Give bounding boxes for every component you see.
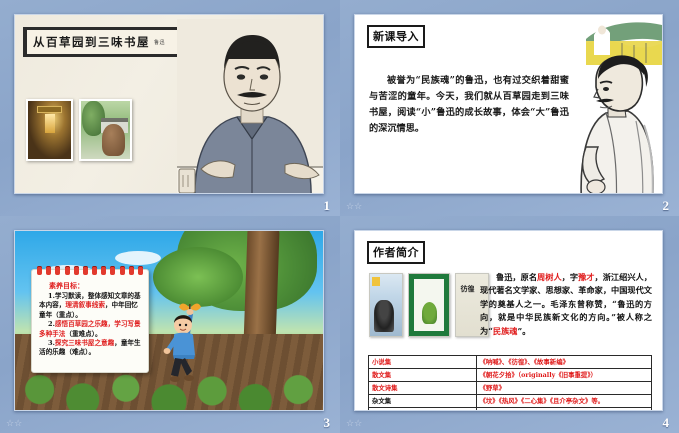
objective-item-3: 3.探究三味书屋之意趣，童年生活的乐趣（难点）。 bbox=[39, 339, 142, 358]
slide-cell-1[interactable]: 从百草园到三味书屋 鲁迅 bbox=[0, 0, 340, 216]
slide-number-4: 4 bbox=[663, 415, 670, 431]
table-cell-value: 《坟》《热风》《二心集》《且介亭杂文》等。 bbox=[476, 395, 651, 408]
table-row: 中国第一篇白话小说 《狂人日记》 bbox=[369, 408, 652, 412]
cloud-shape bbox=[115, 251, 161, 265]
slide-cell-2[interactable]: 新课导入 被誉为“民族魂”的鲁迅，也有过交织着甜蜜与苦涩的童年。今天，我们就从百… bbox=[340, 0, 679, 216]
table-row: 小说集 《呐喊》、《彷徨》、《故事新编》 bbox=[369, 356, 652, 369]
rock-shape bbox=[102, 124, 126, 156]
objective-item-1: 1.学习默读，整体感知文章的基本内容，理清叙事线索，中年回忆童年（重点）。 bbox=[39, 292, 142, 320]
slide-number-2: 2 bbox=[663, 198, 670, 214]
slide-2[interactable]: 新课导入 被誉为“民族魂”的鲁迅，也有过交织着甜蜜与苦涩的童年。今天，我们就从百… bbox=[354, 14, 663, 194]
slide-number-3: 3 bbox=[324, 415, 331, 431]
watermark-star-icon: ☆☆ bbox=[6, 414, 40, 430]
objectives-notepad: 素养目标： 1.学习默读，整体感知文章的基本内容，理清叙事线索，中年回忆童年（重… bbox=[31, 269, 149, 373]
page-subtitle: 鲁迅 bbox=[154, 39, 165, 46]
slide-cell-4[interactable]: 作者简介 彷徨 鲁迅，原名周树人，字豫才，浙江绍兴人，现代著名文学家、思想家、革… bbox=[340, 216, 679, 433]
objectives-title: 素养目标： bbox=[39, 281, 142, 291]
lamp-shape bbox=[45, 114, 54, 134]
table-cell-value: 《野草》 bbox=[476, 382, 651, 395]
baicao-garden-stone-photo bbox=[79, 99, 132, 161]
notepad-rings bbox=[37, 266, 143, 275]
book-cover-group: 彷徨 bbox=[369, 273, 489, 337]
section-heading: 新课导入 bbox=[367, 25, 425, 48]
author-bio-text: 鲁迅，原名周树人，字豫才，浙江绍兴人，现代著名文学家、思想家、革命家，中国现代文… bbox=[480, 271, 652, 338]
lesson-intro-text: 被誉为“民族魂”的鲁迅，也有过交织着甜蜜与苦涩的童年。今天，我们就从百草园走到三… bbox=[369, 73, 569, 137]
table-cell-key: 散文集 bbox=[369, 369, 477, 382]
table-row: 杂文集 《坟》《热风》《二心集》《且介亭杂文》等。 bbox=[369, 395, 652, 408]
tree-canopy-shape bbox=[153, 247, 243, 307]
works-table: 小说集 《呐喊》、《彷徨》、《故事新编》 散文集 《朝花夕拾》（original… bbox=[368, 355, 652, 411]
watermark-star-icon: ☆☆ bbox=[346, 414, 380, 430]
page-title: 从百草园到三味书屋 bbox=[23, 34, 150, 50]
slide-number-1: 1 bbox=[324, 198, 331, 214]
slide-4[interactable]: 作者简介 彷徨 鲁迅，原名周树人，字豫才，浙江绍兴人，现代著名文学家、思想家、革… bbox=[354, 230, 663, 411]
table-row: 散文诗集 《野草》 bbox=[369, 382, 652, 395]
section-heading: 作者简介 bbox=[367, 241, 425, 264]
slide-1[interactable]: 从百草园到三味书屋 鲁迅 bbox=[14, 14, 324, 194]
boy-catching-butterfly-illustration bbox=[159, 299, 217, 387]
table-cell-value: 《呐喊》、《彷徨》、《故事新编》 bbox=[476, 356, 651, 369]
slide-1-title-band: 从百草园到三味书屋 鲁迅 bbox=[23, 27, 186, 57]
table-row: 散文集 《朝花夕拾》（originally《旧事重提》） bbox=[369, 369, 652, 382]
svg-text:☆☆: ☆☆ bbox=[346, 202, 362, 212]
table-cell-key: 中国第一篇白话小说 bbox=[369, 408, 477, 412]
table-cell-value: 《朝花夕拾》（originally《旧事重提》） bbox=[476, 369, 651, 382]
slide-3[interactable]: 素养目标： 1.学习默读，整体感知文章的基本内容，理清叙事线索，中年回忆童年（重… bbox=[14, 230, 324, 411]
svg-text:☆☆: ☆☆ bbox=[346, 419, 362, 429]
luxun-portrait-sketch bbox=[177, 19, 324, 194]
table-cell-key: 小说集 bbox=[369, 356, 477, 369]
book-cover-yecao bbox=[408, 273, 450, 337]
slide-grid: 从百草园到三味书屋 鲁迅 bbox=[0, 0, 679, 433]
book-cover-collection bbox=[369, 273, 403, 337]
table-cell-key: 杂文集 bbox=[369, 395, 477, 408]
svg-text:☆☆: ☆☆ bbox=[6, 419, 22, 429]
watermark-star-icon: ☆☆ bbox=[346, 197, 380, 213]
slide-cell-3[interactable]: 素养目标： 1.学习默读，整体感知文章的基本内容，理清叙事线索，中年回忆童年（重… bbox=[0, 216, 340, 433]
plaque-shape bbox=[37, 106, 63, 114]
objective-item-2: 2.感悟百草园之乐趣，学习写景多种手法（重难点）。 bbox=[39, 320, 142, 339]
luxun-walking-illustration bbox=[552, 51, 663, 194]
table-cell-value: 《狂人日记》 bbox=[476, 408, 651, 412]
sanwei-study-interior-photo bbox=[26, 99, 73, 161]
table-cell-key: 散文诗集 bbox=[369, 382, 477, 395]
